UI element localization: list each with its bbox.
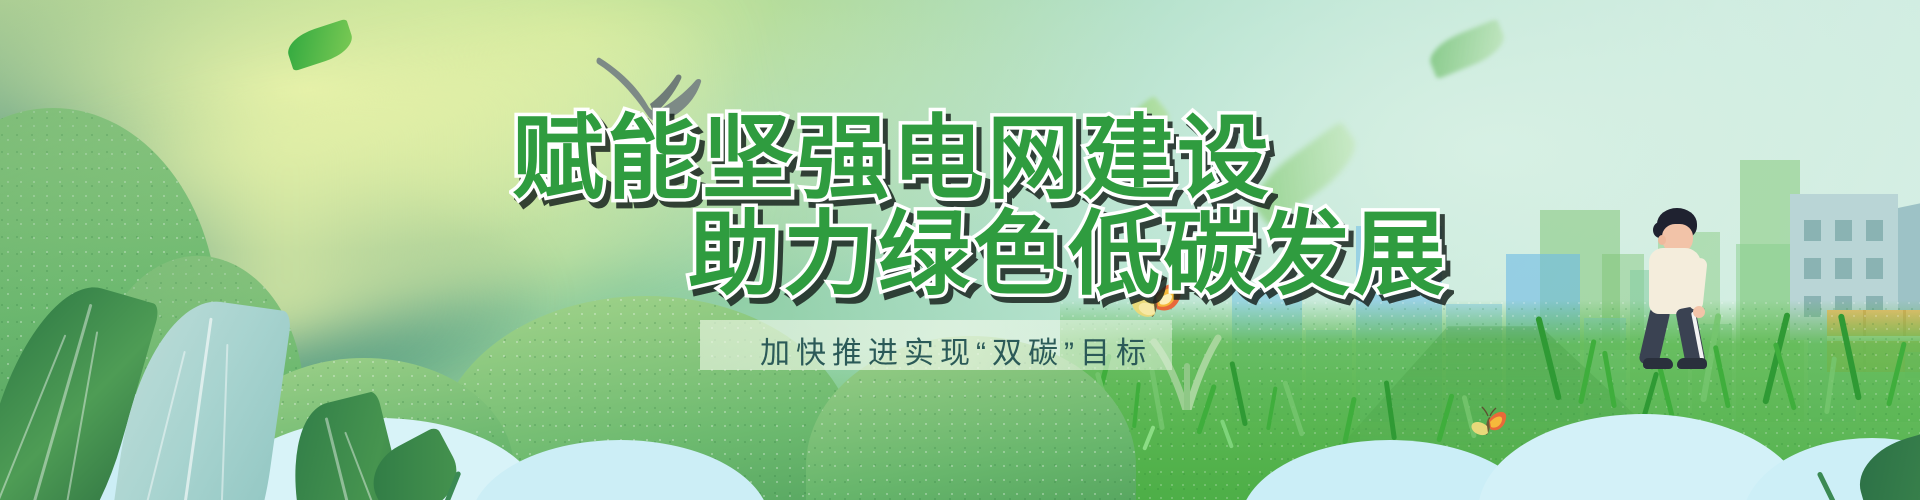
butterfly-icon: [1467, 406, 1509, 444]
eco-power-grid-banner: 加快推进实现“双碳”目标 赋能坚强电网建设 助力绿色低碳发展: [0, 0, 1920, 500]
swallow-bird-icon: [592, 54, 720, 126]
walking-person-icon: [1637, 208, 1715, 368]
banner-subtitle: 加快推进实现“双碳”目标: [760, 328, 1152, 372]
